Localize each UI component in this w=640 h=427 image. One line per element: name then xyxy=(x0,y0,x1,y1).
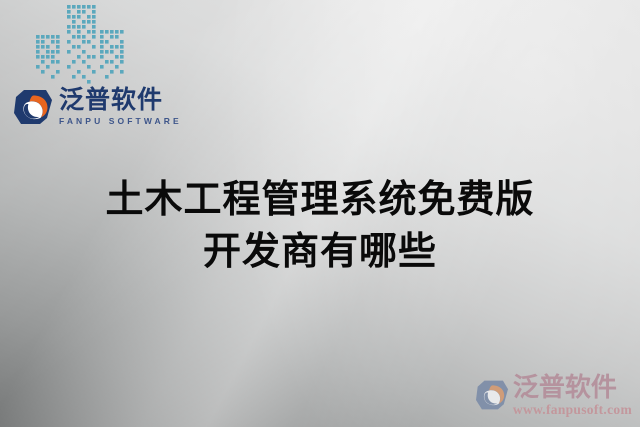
watermark-name-cn: 泛普软件 xyxy=(513,374,632,400)
watermark-url: www.fanpusoft.com xyxy=(513,403,632,417)
headline-line-2: 开发商有哪些 xyxy=(0,226,640,278)
skyline-icon xyxy=(34,2,124,84)
brand-name-en: FANPU SOFTWARE xyxy=(59,117,182,126)
fanpu-logo-icon xyxy=(13,88,53,126)
watermark-words: 泛普软件 www.fanpusoft.com xyxy=(513,374,632,417)
headline: 土木工程管理系统免费版 开发商有哪些 xyxy=(0,174,640,278)
watermark-logo-icon xyxy=(475,379,509,411)
watermark: 泛普软件 www.fanpusoft.com xyxy=(475,374,632,417)
brand-name-cn: 泛普软件 xyxy=(59,88,182,113)
headline-line-1: 土木工程管理系统免费版 xyxy=(0,174,640,226)
promo-banner: 泛普软件 FANPU SOFTWARE 土木工程管理系统免费版 开发商有哪些 泛… xyxy=(0,0,640,427)
brand-wordmark: 泛普软件 FANPU SOFTWARE xyxy=(59,88,182,126)
pixel-skyline-graphic xyxy=(34,2,124,84)
brand-logo: 泛普软件 FANPU SOFTWARE xyxy=(13,88,182,126)
